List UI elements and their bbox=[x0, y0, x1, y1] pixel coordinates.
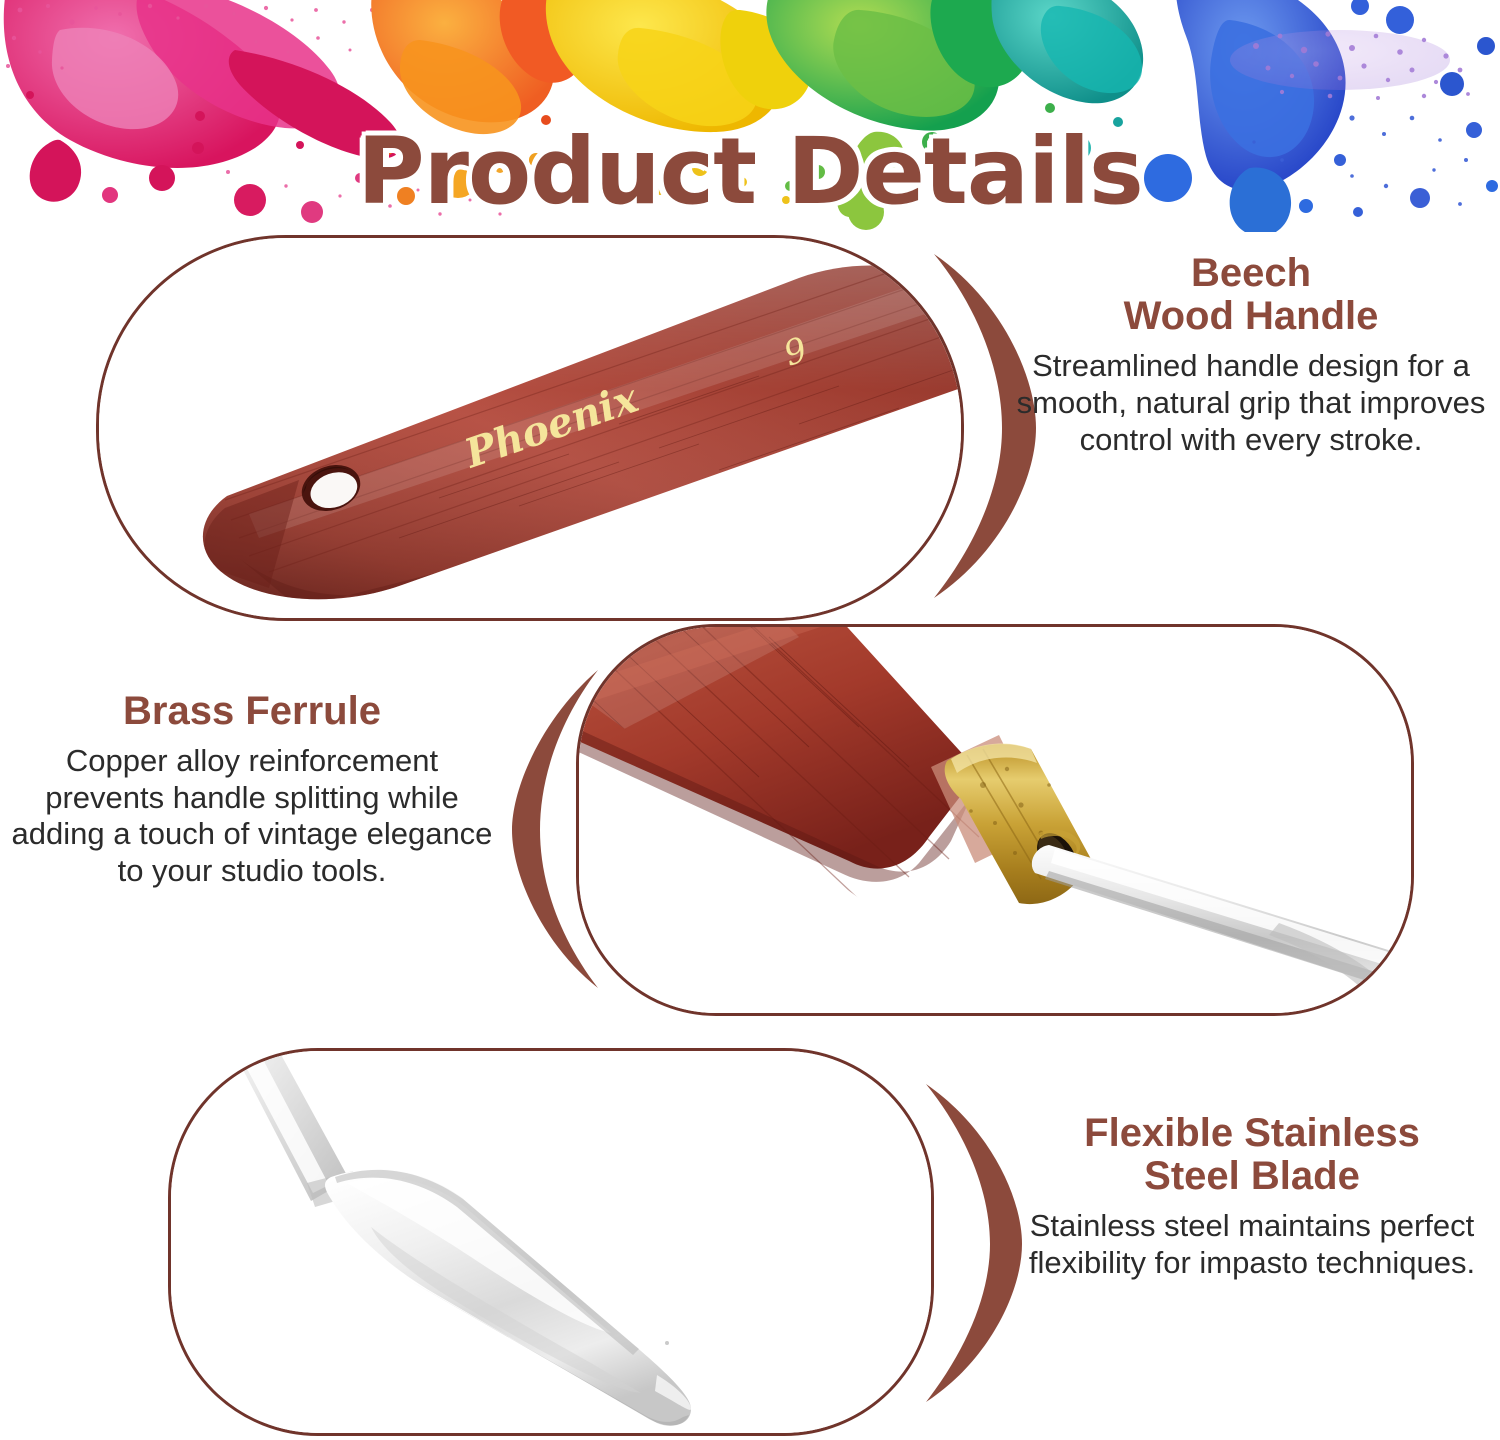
product-image-frame-ferrule bbox=[576, 624, 1414, 1016]
feature-text-ferrule: Brass Ferrule Copper alloy reinforcement… bbox=[6, 690, 498, 890]
feature-text-blade: Flexible Stainless Steel Blade Stainless… bbox=[1012, 1112, 1492, 1282]
decorative-crescent-left bbox=[502, 664, 614, 994]
ferrule-photo bbox=[579, 627, 1411, 1013]
product-image-frame-handle: Phoenix 9 bbox=[96, 235, 964, 621]
product-image-frame-blade bbox=[168, 1048, 934, 1436]
decorative-crescent-right-blade bbox=[910, 1078, 1028, 1408]
feature-title-blade: Flexible Stainless Steel Blade bbox=[1012, 1112, 1492, 1198]
feature-body-blade: Stainless steel maintains perfect flexib… bbox=[1012, 1208, 1492, 1281]
feature-body-handle: Streamlined handle design for a smooth, … bbox=[1016, 348, 1486, 458]
feature-body-ferrule: Copper alloy reinforcement prevents hand… bbox=[6, 743, 498, 889]
feature-text-handle: Beech Wood Handle Streamlined handle des… bbox=[1016, 252, 1486, 458]
handle-photo: Phoenix 9 bbox=[99, 238, 961, 618]
feature-title-ferrule: Brass Ferrule bbox=[6, 690, 498, 733]
blade-photo bbox=[171, 1051, 931, 1433]
feature-title-handle: Beech Wood Handle bbox=[1016, 252, 1486, 338]
page-title: Product Details bbox=[0, 118, 1500, 225]
